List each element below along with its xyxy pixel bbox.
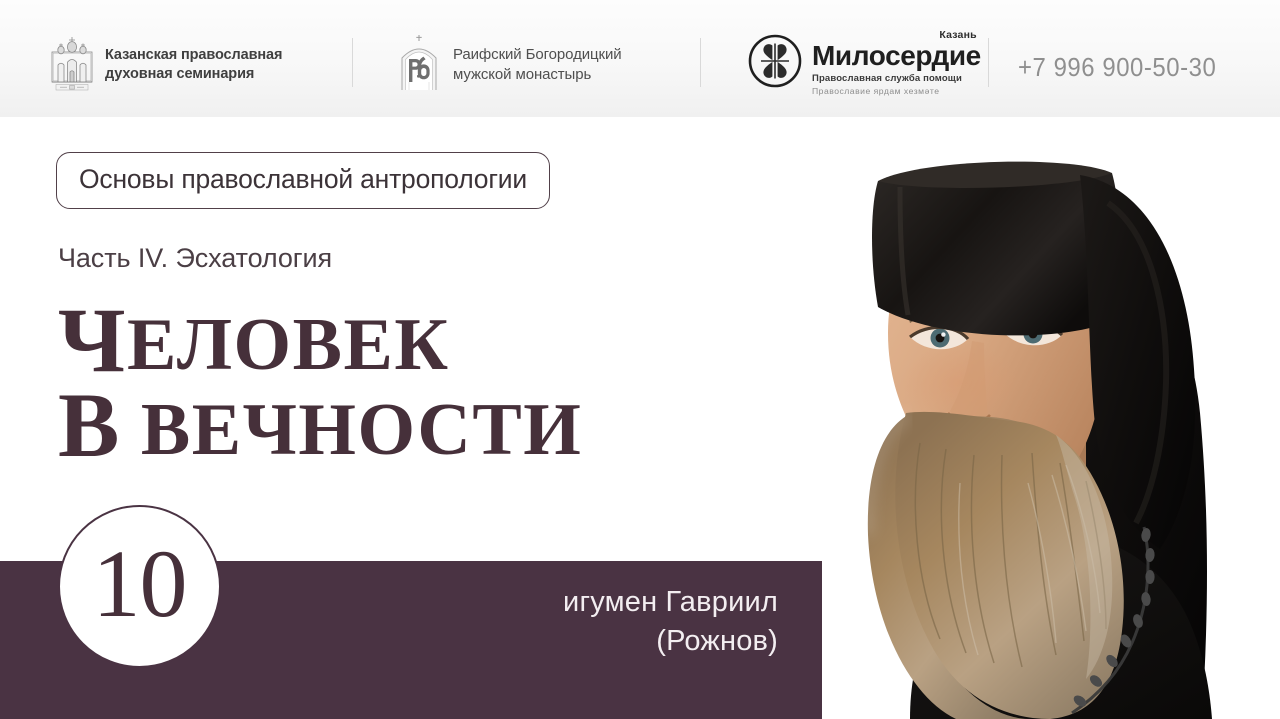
header-bar: Казанская православная духовная семинари… bbox=[0, 0, 1280, 117]
page-title-line-2-rest: ВЕЧНОСТИ bbox=[121, 389, 582, 471]
brand-line-1: Раифский Богородицкий bbox=[453, 45, 622, 65]
lesson-number-badge: 10 bbox=[58, 505, 221, 668]
miloserdie-text-block: Казань Милосердие Православная служба по… bbox=[812, 31, 981, 96]
miloserdie-subtitle-tt: Православие ярдам хезмәте bbox=[812, 86, 981, 96]
heart-cross-circle-icon bbox=[748, 34, 802, 93]
brand-raifa-monastery-label: Раифский Богородицкий мужской монастырь bbox=[453, 45, 622, 85]
header-divider-3 bbox=[988, 38, 989, 87]
brand-line-2: мужской монастырь bbox=[453, 65, 622, 85]
miloserdie-subtitle-ru: Православная служба помощи bbox=[812, 73, 981, 84]
miloserdie-name: Милосердие bbox=[812, 42, 981, 70]
course-title-pill: Основы православной антропологии bbox=[56, 152, 550, 209]
arch-monogram-icon bbox=[396, 34, 442, 97]
page-title-line-1: ЧЕЛОВЕК bbox=[58, 302, 582, 381]
header-inner: Казанская православная духовная семинари… bbox=[0, 0, 1280, 117]
speaker-photo bbox=[760, 83, 1280, 719]
header-divider-1 bbox=[352, 38, 353, 87]
course-part-label: Часть IV. Эсхатология bbox=[58, 243, 332, 274]
contact-phone[interactable]: +7 996 900-50-30 bbox=[1018, 52, 1216, 83]
cathedral-engraving-icon bbox=[50, 34, 94, 97]
brand-raifa-monastery[interactable]: Раифский Богородицкий мужской монастырь bbox=[396, 33, 622, 97]
brand-kazan-seminary-label: Казанская православная духовная семинари… bbox=[105, 46, 282, 85]
speaker-name-line-2: (Рожнов) bbox=[563, 622, 778, 661]
speaker-name-line-1: игумен Гавриил bbox=[563, 583, 778, 622]
brand-miloserdie[interactable]: Казань Милосердие Православная служба по… bbox=[748, 31, 981, 95]
miloserdie-city: Казань bbox=[939, 29, 976, 41]
page-title-line-2-initial: В bbox=[58, 374, 121, 476]
lesson-number-value: 10 bbox=[93, 536, 187, 632]
page-title-line-2: В ВЕЧНОСТИ bbox=[58, 387, 582, 466]
speaker-name: игумен Гавриил (Рожнов) bbox=[563, 583, 778, 660]
brand-line-1: Казанская православная bbox=[105, 46, 282, 65]
brand-kazan-seminary[interactable]: Казанская православная духовная семинари… bbox=[50, 33, 282, 97]
presentation-slide: Казанская православная духовная семинари… bbox=[0, 0, 1280, 719]
page-title: ЧЕЛОВЕК В ВЕЧНОСТИ bbox=[58, 302, 582, 465]
page-title-line-1-rest: ЕЛОВЕК bbox=[127, 304, 449, 386]
brand-line-2: духовная семинария bbox=[105, 65, 282, 84]
header-divider-2 bbox=[700, 38, 701, 87]
